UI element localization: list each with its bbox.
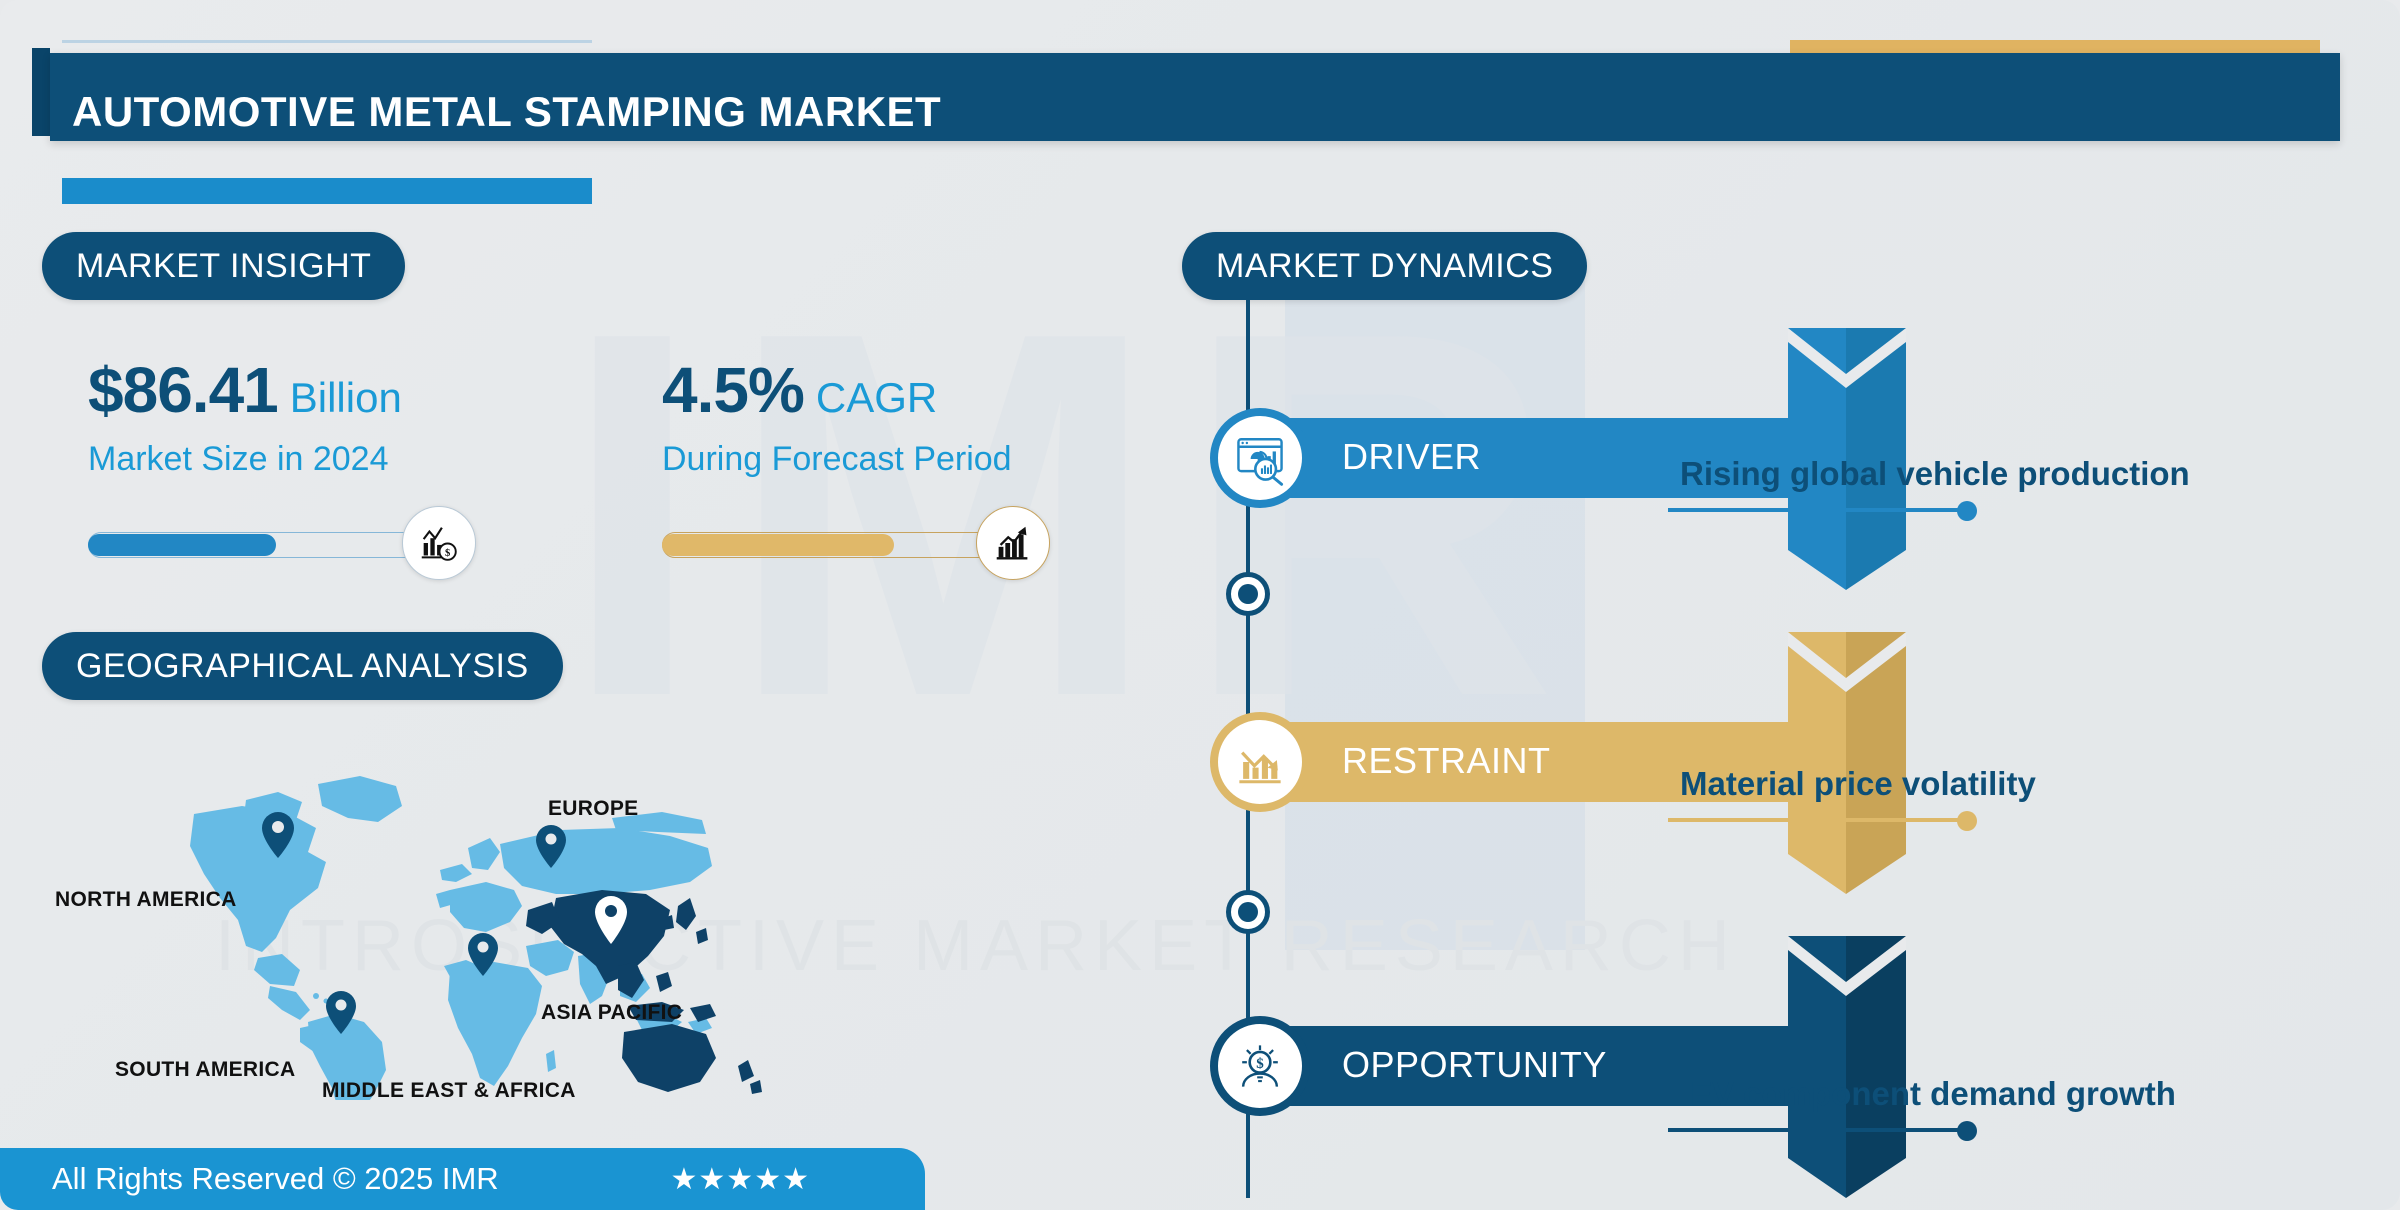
stat-unit: Billion: [290, 374, 402, 421]
progress-fill: [662, 534, 894, 556]
svg-text:$: $: [445, 548, 450, 559]
dynamics-text-driver: Rising global vehicle production: [1680, 455, 2190, 493]
section-pill-label: GEOGRAPHICAL ANALYSIS: [76, 647, 529, 686]
header-bar-shadow: [32, 48, 50, 136]
stat-unit: CAGR: [816, 374, 937, 421]
stat-caption: Market Size in 2024: [88, 440, 402, 479]
dynamics-label: RESTRAINT: [1342, 740, 1551, 782]
infographic-page: IMR INTROSPECTIVE MARKET RESEARCH AUTOMO…: [0, 0, 2400, 1210]
dashboard-analysis-icon: [1210, 408, 1310, 508]
page-title: AUTOMOTIVE METAL STAMPING MARKET: [72, 88, 941, 136]
dynamics-leader-driver: [1668, 508, 1968, 512]
stat-market-size: $86.41Billion Market Size in 2024: [88, 358, 402, 479]
bar-chart-dollar-icon: $: [402, 506, 476, 580]
dynamics-leader-opportunity: [1668, 1128, 1968, 1132]
stat-value: 4.5%: [662, 354, 804, 426]
map-label-south-america: SOUTH AMERICA: [115, 1058, 295, 1082]
dynamics-text-restraint: Material price volatility: [1680, 765, 2036, 803]
section-pill-label: MARKET INSIGHT: [76, 247, 371, 286]
dynamics-label: OPPORTUNITY: [1342, 1044, 1607, 1086]
stat-cagr: 4.5%CAGR During Forecast Period: [662, 358, 1012, 479]
watermark-letters: IMR: [560, 255, 1579, 775]
timeline-node-2: [1226, 890, 1270, 934]
header-thin-rule: [62, 40, 592, 43]
dynamics-leader-restraint: [1668, 818, 1968, 822]
section-pill-label: MARKET DYNAMICS: [1216, 247, 1553, 286]
map-label-north-america: NORTH AMERICA: [55, 888, 237, 912]
dynamics-label: DRIVER: [1342, 436, 1481, 478]
leader-end-dot: [1957, 811, 1977, 831]
section-pill-market-dynamics: MARKET DYNAMICS: [1182, 232, 1587, 300]
dynamics-arrow-restraint: [1788, 632, 1908, 894]
svg-text:$: $: [1256, 1056, 1264, 1072]
dynamics-arrow-opportunity: [1788, 936, 1908, 1198]
growth-arrow-chart-icon: [976, 506, 1050, 580]
stat-caption: During Forecast Period: [662, 440, 1012, 479]
stat-value-row: 4.5%CAGR: [662, 358, 1012, 422]
map-label-middle-east-africa: MIDDLE EAST & AFRICA: [322, 1079, 576, 1103]
world-map-svg: [150, 770, 790, 1100]
rating-stars: ★★★★★: [671, 1162, 810, 1197]
lightbulb-dollar-icon: $: [1210, 1016, 1310, 1116]
timeline-node-1: [1226, 572, 1270, 616]
leader-end-dot: [1957, 501, 1977, 521]
section-pill-market-insight: MARKET INSIGHT: [42, 232, 405, 300]
progress-fill: [88, 534, 276, 556]
world-map: [150, 770, 790, 1100]
dynamics-text-opportunity: EV component demand growth: [1690, 1075, 2176, 1113]
section-pill-geographical-analysis: GEOGRAPHICAL ANALYSIS: [42, 632, 563, 700]
map-label-europe: EUROPE: [548, 797, 639, 821]
map-label-asia-pacific: ASIA PACIFIC: [541, 1001, 682, 1025]
header-accent-bar: [62, 178, 592, 204]
stat-value: $86.41: [88, 354, 278, 426]
footer-bar: All Rights Reserved © 2025 IMR ★★★★★: [0, 1148, 925, 1210]
copyright-text: All Rights Reserved © 2025 IMR: [52, 1161, 499, 1197]
leader-end-dot: [1957, 1121, 1977, 1141]
declining-bar-chart-icon: [1210, 712, 1310, 812]
stat-value-row: $86.41Billion: [88, 358, 402, 422]
